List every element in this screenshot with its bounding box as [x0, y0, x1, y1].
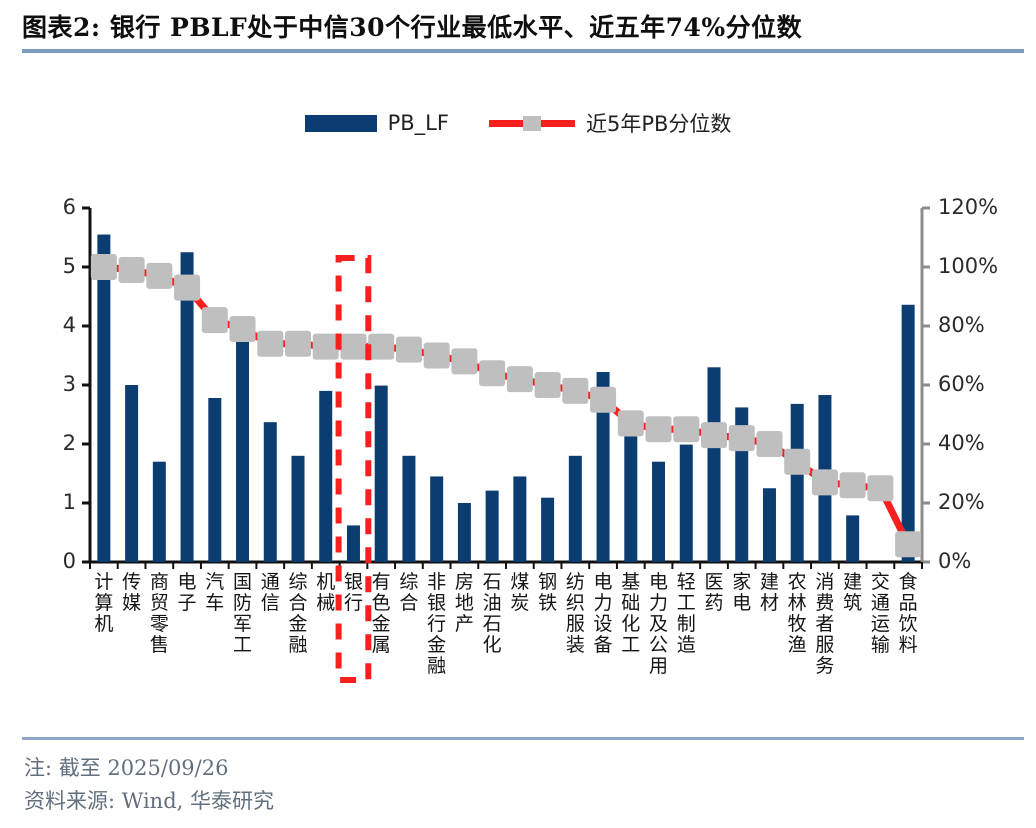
- bar-纺织服装: [569, 456, 582, 562]
- y-axis-label-right-0%: 0%: [938, 549, 971, 573]
- bar-煤炭: [513, 476, 526, 562]
- percentile-marker-非银行金融: [424, 343, 450, 369]
- percentile-marker-传媒: [119, 257, 145, 283]
- x-axis-label-食品饮料: 食品饮料: [897, 572, 919, 656]
- footer-note: 注: 截至 2025/09/26: [24, 752, 274, 785]
- bar-商贸零售: [153, 462, 166, 562]
- x-axis-label-家电: 家电: [731, 572, 753, 614]
- bar-家电: [735, 407, 748, 562]
- x-axis-label-石油石化: 石油石化: [481, 572, 503, 656]
- percentile-marker-石油石化: [479, 360, 505, 386]
- x-axis-label-纺织服装: 纺织服装: [564, 572, 586, 656]
- x-axis-label-机械: 机械: [315, 572, 337, 614]
- chart-legend: PB_LF 近5年PB分位数: [0, 108, 1036, 138]
- bar-房地产: [458, 503, 471, 562]
- percentile-marker-煤炭: [507, 366, 533, 392]
- percentile-marker-计算机: [91, 254, 117, 280]
- x-axis-label-建筑: 建筑: [842, 572, 864, 614]
- bar-电力设备: [597, 372, 610, 562]
- x-axis-label-银行: 银行: [342, 572, 364, 614]
- percentile-marker-房地产: [451, 348, 477, 374]
- y-axis-label-left-4: 4: [42, 313, 76, 337]
- percentile-marker-有色金属: [368, 334, 394, 360]
- chart-header: 图表2: 银行 PBLF处于中信30个行业最低水平、近五年74%分位数: [22, 8, 1022, 53]
- chart-footer: 注: 截至 2025/09/26 资料来源: Wind, 华泰研究: [24, 752, 274, 818]
- y-axis-label-left-3: 3: [42, 372, 76, 396]
- x-axis-label-非银行金融: 非银行金融: [426, 572, 448, 677]
- percentile-marker-纺织服装: [562, 378, 588, 404]
- bar-汽车: [208, 398, 221, 562]
- bar-电力及公用: [652, 462, 665, 562]
- legend-item-bar: PB_LF: [305, 111, 449, 135]
- percentile-marker-交通运输: [867, 475, 893, 501]
- x-axis-label-房地产: 房地产: [453, 572, 475, 635]
- y-axis-label-left-6: 6: [42, 195, 76, 219]
- x-axis-label-基础化工: 基础化工: [620, 572, 642, 656]
- x-axis-label-综合: 综合: [398, 572, 420, 614]
- legend-bar-swatch-icon: [305, 115, 377, 132]
- x-axis-label-计算机: 计算机: [93, 572, 115, 635]
- bar-通信: [264, 422, 277, 562]
- y-axis-label-right-40%: 40%: [938, 431, 985, 455]
- percentile-marker-医药: [701, 422, 727, 448]
- y-axis-label-right-60%: 60%: [938, 372, 985, 396]
- bar-机械: [319, 391, 332, 562]
- bar-计算机: [97, 235, 110, 562]
- bar-医药: [708, 367, 721, 562]
- bar-轻工制造: [680, 445, 693, 562]
- page-title: 图表2: 银行 PBLF处于中信30个行业最低水平、近五年74%分位数: [22, 8, 1022, 44]
- percentile-line: [104, 267, 908, 544]
- bar-综合: [402, 456, 415, 562]
- x-axis-label-煤炭: 煤炭: [509, 572, 531, 614]
- percentile-marker-农林牧渔: [784, 449, 810, 475]
- x-axis-label-电力及公用: 电力及公用: [648, 572, 670, 677]
- percentile-marker-商贸零售: [146, 263, 172, 289]
- bar-综合金融: [292, 456, 305, 562]
- x-axis-label-商贸零售: 商贸零售: [148, 572, 170, 656]
- percentile-marker-建筑: [840, 472, 866, 498]
- bar-有色金属: [375, 386, 388, 562]
- percentile-marker-银行: [340, 334, 366, 360]
- x-axis-label-综合金融: 综合金融: [287, 572, 309, 656]
- percentile-marker-电力及公用: [646, 416, 672, 442]
- x-axis-label-轻工制造: 轻工制造: [675, 572, 697, 656]
- x-axis-label-农林牧渔: 农林牧渔: [786, 572, 808, 656]
- bar-食品饮料: [902, 305, 915, 562]
- legend-line-swatch-icon: [489, 114, 575, 132]
- percentile-marker-汽车: [202, 307, 228, 333]
- percentile-marker-建材: [756, 431, 782, 457]
- percentile-marker-机械: [313, 334, 339, 360]
- bar-银行: [347, 525, 360, 562]
- x-axis-label-国防军工: 国防军工: [232, 572, 254, 656]
- x-axis-label-电子: 电子: [176, 572, 198, 614]
- x-axis-label-汽车: 汽车: [204, 572, 226, 614]
- bar-国防军工: [236, 329, 249, 562]
- x-axis-label-消费者服务: 消费者服务: [814, 572, 836, 677]
- y-axis-label-left-0: 0: [42, 549, 76, 573]
- bar-建材: [763, 488, 776, 562]
- percentile-marker-综合金融: [285, 331, 311, 357]
- percentile-marker-家电: [729, 425, 755, 451]
- bar-传媒: [125, 385, 138, 562]
- y-axis-label-right-120%: 120%: [938, 195, 998, 219]
- percentile-marker-消费者服务: [812, 469, 838, 495]
- title-underline: [22, 49, 1024, 53]
- legend-label-percentile: 近5年PB分位数: [586, 108, 731, 138]
- bar-钢铁: [541, 498, 554, 562]
- y-axis-label-left-5: 5: [42, 254, 76, 278]
- percentile-marker-电力设备: [590, 387, 616, 413]
- x-axis-label-有色金属: 有色金属: [370, 572, 392, 656]
- footer-source: 资料来源: Wind, 华泰研究: [24, 785, 274, 818]
- x-axis-label-电力设备: 电力设备: [592, 572, 614, 656]
- percentile-marker-通信: [257, 331, 283, 357]
- x-axis-label-交通运输: 交通运输: [869, 572, 891, 656]
- legend-label-pb-lf: PB_LF: [388, 111, 449, 135]
- y-axis-label-right-80%: 80%: [938, 313, 985, 337]
- y-axis-label-right-20%: 20%: [938, 490, 985, 514]
- bar-石油石化: [486, 491, 499, 562]
- bar-基础化工: [624, 436, 637, 562]
- percentile-marker-电子: [174, 275, 200, 301]
- bar-电子: [181, 252, 194, 562]
- percentile-marker-钢铁: [535, 372, 561, 398]
- highlight-box-bank: [339, 258, 369, 680]
- x-axis-label-建材: 建材: [758, 572, 780, 614]
- bar-非银行金融: [430, 476, 443, 562]
- percentile-marker-综合: [396, 337, 422, 363]
- x-axis-label-钢铁: 钢铁: [537, 572, 559, 614]
- percentile-marker-食品饮料: [895, 531, 921, 557]
- y-axis-label-right-100%: 100%: [938, 254, 998, 278]
- percentile-marker-基础化工: [618, 410, 644, 436]
- y-axis-label-left-2: 2: [42, 431, 76, 455]
- x-axis-label-医药: 医药: [703, 572, 725, 614]
- bar-消费者服务: [818, 395, 831, 562]
- bar-农林牧渔: [791, 404, 804, 562]
- x-axis-label-传媒: 传媒: [121, 572, 143, 614]
- footer-divider: [22, 737, 1024, 740]
- legend-item-line: 近5年PB分位数: [489, 108, 731, 138]
- y-axis-label-left-1: 1: [42, 490, 76, 514]
- x-axis-label-通信: 通信: [259, 572, 281, 614]
- percentile-marker-国防军工: [230, 316, 256, 342]
- percentile-marker-轻工制造: [673, 416, 699, 442]
- bar-建筑: [846, 515, 859, 562]
